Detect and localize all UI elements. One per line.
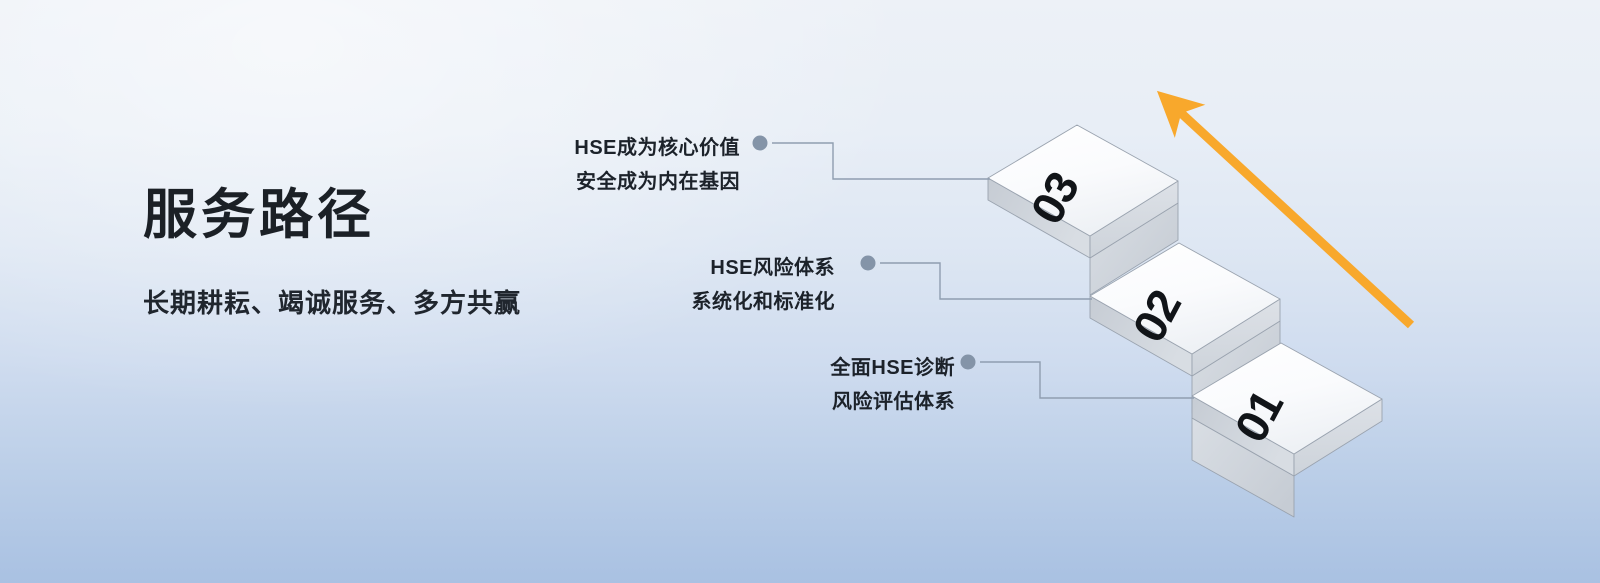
growth-arrow-layer xyxy=(0,0,1600,583)
growth-arrow xyxy=(1168,101,1411,325)
slide-canvas: 服务路径 长期耕耘、竭诚服务、多方共赢 HSE成为核心价值 安全成为内在基因 H… xyxy=(0,0,1600,583)
